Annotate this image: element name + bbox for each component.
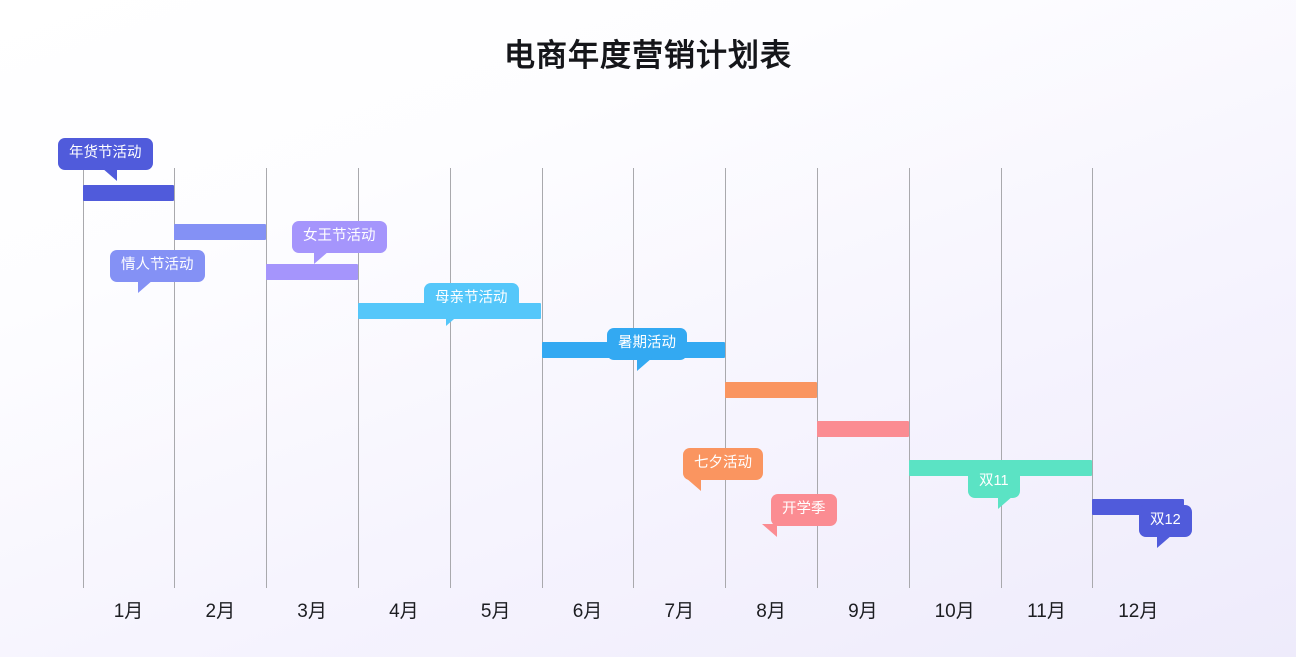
axis-tick [909, 578, 910, 588]
gantt-bar[interactable] [725, 382, 817, 398]
tooltip-tail [102, 168, 117, 181]
axis-label-month-4: 4月 [358, 596, 450, 623]
axis-label-month-9: 9月 [817, 596, 909, 623]
axis-label-month-7: 7月 [633, 596, 725, 623]
axis-tick [266, 578, 267, 588]
axis-label-month-5: 5月 [450, 596, 542, 623]
axis-tick [542, 578, 543, 588]
tooltip-tail [138, 280, 153, 293]
tooltip-tail [762, 524, 777, 537]
tooltip-tail [446, 313, 461, 326]
axis-tick [358, 578, 359, 588]
task-label-tooltip[interactable]: 情人节活动 [110, 250, 205, 282]
axis-label-month-1: 1月 [83, 596, 175, 623]
gridline-month [725, 168, 726, 578]
tooltip-tail [686, 478, 701, 491]
task-label-tooltip[interactable]: 母亲节活动 [424, 283, 519, 315]
tooltip-tail [998, 496, 1013, 509]
gantt-bar[interactable] [266, 264, 358, 280]
task-label-tooltip[interactable]: 暑期活动 [607, 328, 687, 360]
gridline-month [266, 168, 267, 578]
axis-tick [174, 578, 175, 588]
gridline-month [83, 168, 84, 578]
gridline-month [633, 168, 634, 578]
gridline-month [1001, 168, 1002, 578]
gantt-bar[interactable] [174, 224, 266, 240]
gridline-month [1092, 168, 1093, 578]
gridline-month [909, 168, 910, 578]
axis-tick [633, 578, 634, 588]
axis-tick [450, 578, 451, 588]
axis-label-month-6: 6月 [542, 596, 634, 623]
axis-label-month-11: 11月 [1001, 596, 1093, 623]
axis-label-month-8: 8月 [725, 596, 817, 623]
axis-label-month-2: 2月 [174, 596, 266, 623]
plot-area: 1月2月3月4月5月6月7月8月9月10月11月12月年货节活动情人节活动女王节… [0, 0, 1296, 657]
tooltip-tail [637, 358, 652, 371]
task-label-tooltip[interactable]: 七夕活动 [683, 448, 763, 480]
gridline-month [542, 168, 543, 578]
tooltip-tail [1157, 535, 1172, 548]
axis-label-month-10: 10月 [909, 596, 1001, 623]
gridline-month [450, 168, 451, 578]
gantt-chart: 电商年度营销计划表 1月2月3月4月5月6月7月8月9月10月11月12月年货节… [0, 0, 1296, 657]
gantt-bar[interactable] [817, 421, 909, 437]
task-label-tooltip[interactable]: 年货节活动 [58, 138, 153, 170]
task-label-tooltip[interactable]: 开学季 [771, 494, 837, 526]
task-label-tooltip[interactable]: 双12 [1139, 505, 1192, 537]
axis-label-month-12: 12月 [1092, 596, 1184, 623]
gantt-bar[interactable] [83, 185, 175, 201]
axis-tick [1092, 578, 1093, 588]
task-label-tooltip[interactable]: 双11 [968, 466, 1020, 498]
axis-tick [83, 578, 84, 588]
axis-tick [817, 578, 818, 588]
axis-tick [1001, 578, 1002, 588]
axis-label-month-3: 3月 [266, 596, 358, 623]
axis-tick [725, 578, 726, 588]
tooltip-tail [314, 251, 329, 264]
task-label-tooltip[interactable]: 女王节活动 [292, 221, 387, 253]
